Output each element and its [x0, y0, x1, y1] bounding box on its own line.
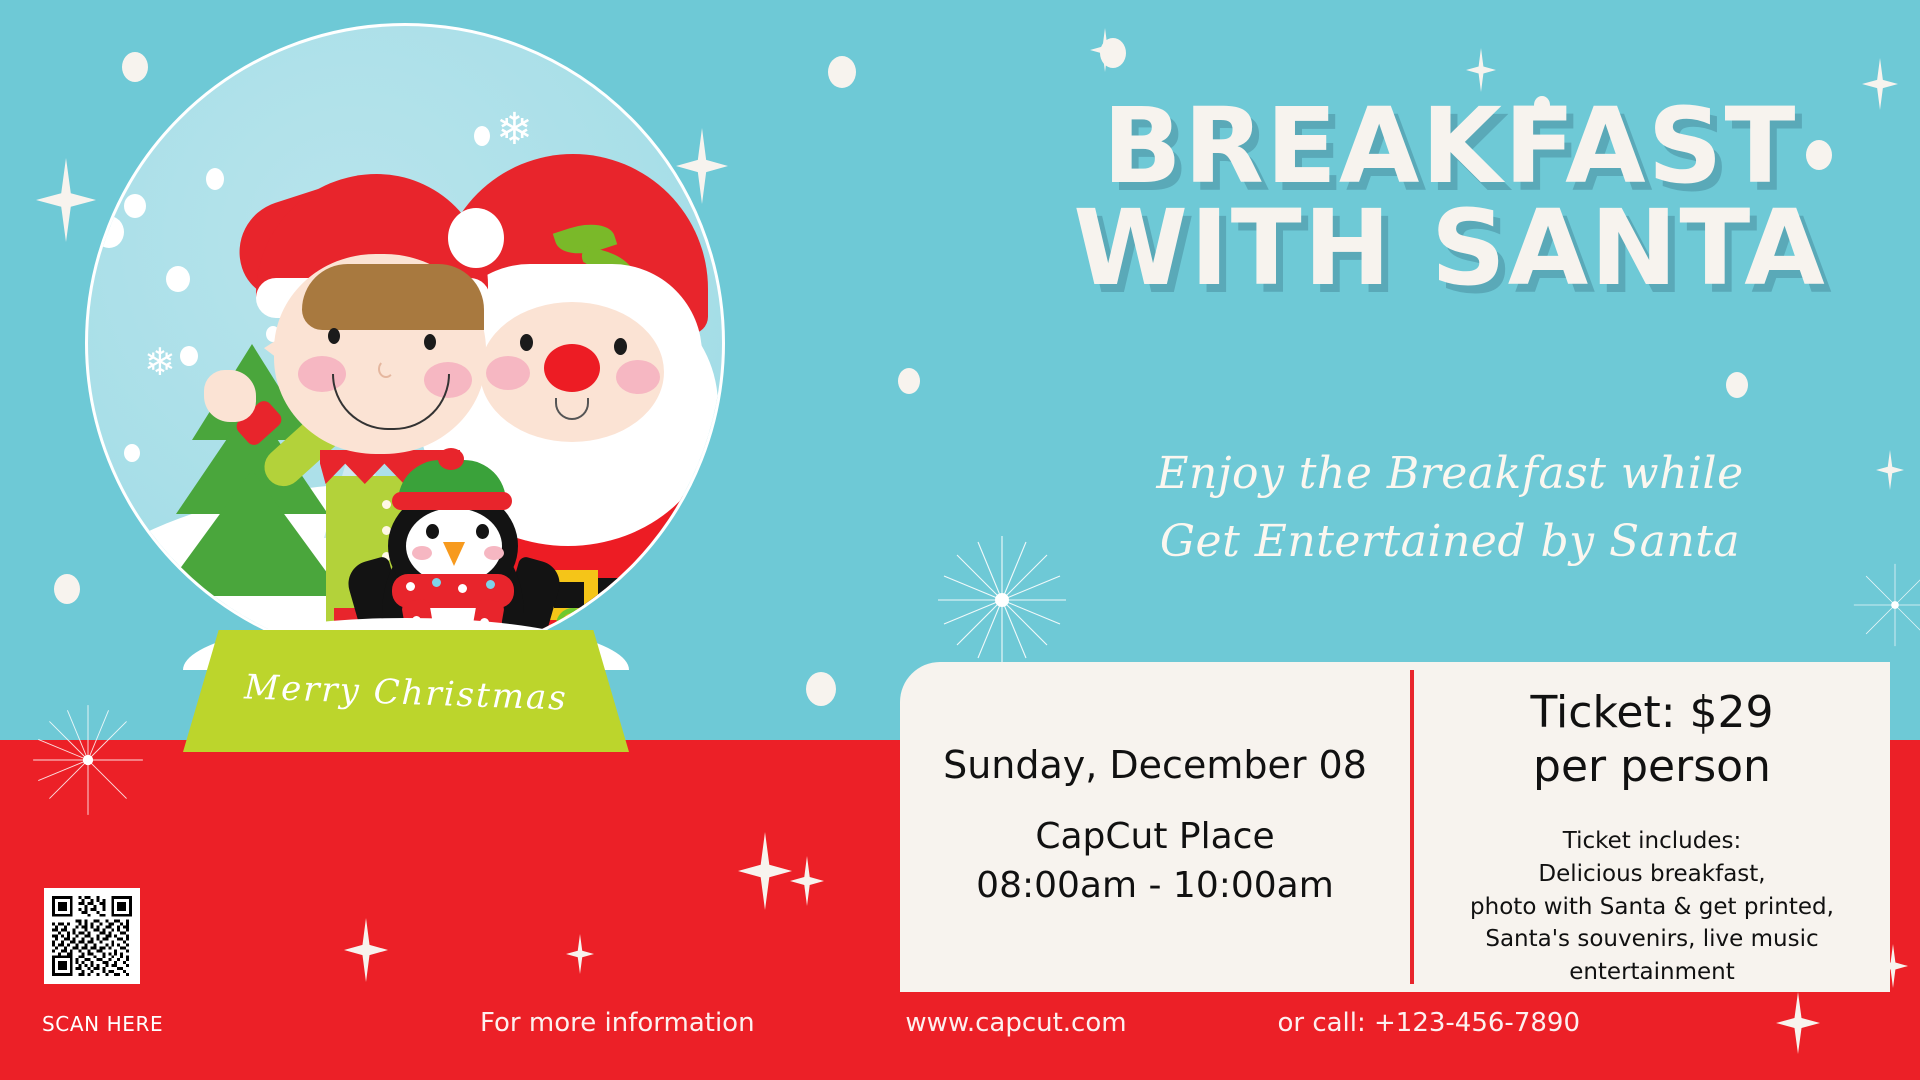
penguin-eye [426, 524, 439, 539]
snowflake-icon: ❄ [144, 344, 176, 382]
page-title: BREAKFAST WITH SANTA [1040, 96, 1860, 300]
snow-globe: ❄ ❄ ❄ ❄ [75, 18, 735, 818]
qr-code-frame[interactable] [44, 888, 140, 984]
decor-dot [806, 672, 836, 706]
penguin-beanie-brim [392, 492, 512, 510]
subtitle-line-1: Enjoy the Breakfast while [1040, 440, 1860, 508]
merry-christmas-banner: Merry Christmas [182, 640, 631, 746]
globe-snow-dot [124, 194, 146, 218]
santa-cheek [616, 360, 660, 394]
globe-snow-dot [94, 216, 124, 248]
penguin-eye [476, 524, 489, 539]
elf-hair [302, 264, 484, 330]
subtitle: Enjoy the Breakfast while Get Entertaine… [1040, 440, 1860, 576]
snowflake-icon: ❄ [496, 108, 533, 152]
scarf-dot [406, 582, 415, 591]
globe-snow-dot [124, 444, 140, 462]
ticket-includes-list: Ticket includes: Delicious breakfast, ph… [1470, 825, 1834, 988]
headline-line-2: WITH SANTA [1040, 198, 1860, 300]
ticket-includes-item: Delicious breakfast, [1470, 858, 1834, 891]
event-time: 08:00am - 10:00am [976, 862, 1334, 911]
qr-code-icon[interactable] [49, 893, 135, 979]
poster-canvas: ❄ ❄ ❄ ❄ [0, 0, 1920, 1080]
scarf-dot [486, 580, 495, 589]
footer-website-link[interactable]: www.capcut.com [905, 1008, 1126, 1038]
footer-more-info-label: For more information [480, 1008, 755, 1038]
event-venue: CapCut Place [976, 813, 1334, 862]
ticket-includes-heading: Ticket includes: [1470, 825, 1834, 858]
ticket-price-unit: per person [1531, 740, 1774, 794]
scarf-dot [432, 578, 441, 587]
elf-eye [328, 328, 340, 344]
starburst-icon [1850, 560, 1920, 650]
scarf-dot [458, 584, 467, 593]
scan-here-label: SCAN HERE [42, 1012, 163, 1036]
elf-button [382, 500, 391, 509]
decor-dot [1726, 372, 1748, 398]
ticket-price-amount: Ticket: $29 [1531, 686, 1774, 740]
info-cards-panel: Sunday, December 08 CapCut Place 08:00am… [900, 662, 1890, 992]
penguin-beanie-pompom [438, 448, 464, 470]
elf-eye [424, 334, 436, 350]
santa-nose [544, 344, 600, 392]
ticket-includes-item: Santa's souvenirs, live music [1470, 923, 1834, 956]
globe-snow-dot [180, 346, 198, 366]
penguin-cheek [484, 546, 504, 560]
globe-snow-dot [166, 266, 190, 292]
santa-cheek [486, 356, 530, 390]
decor-dot [898, 368, 920, 394]
ticket-includes-item: entertainment [1470, 956, 1834, 989]
event-details-card: Sunday, December 08 CapCut Place 08:00am… [900, 662, 1410, 992]
ticket-price: Ticket: $29 per person [1531, 686, 1774, 809]
globe-snow-dot [474, 126, 490, 146]
event-date: Sunday, December 08 [943, 743, 1367, 787]
santa-eye [614, 338, 627, 355]
ticket-includes-item: photo with Santa & get printed, [1470, 891, 1834, 924]
globe-glass-dome: ❄ ❄ ❄ ❄ [85, 23, 725, 663]
subtitle-line-2: Get Entertained by Santa [1040, 508, 1860, 576]
footer-contact-row: For more information www.capcut.com or c… [480, 1008, 1580, 1038]
elf-hand [204, 370, 256, 422]
ticket-card: Ticket: $29 per person Ticket includes: … [1414, 662, 1890, 992]
event-venue-and-time: CapCut Place 08:00am - 10:00am [976, 813, 1334, 910]
globe-snow-dot [206, 168, 224, 190]
penguin-cheek [412, 546, 432, 560]
santa-eye [520, 334, 533, 351]
elf-hat-pompom [448, 208, 504, 268]
footer-phone-number[interactable]: or call: +123-456-7890 [1277, 1008, 1580, 1038]
decor-dot [828, 56, 856, 88]
